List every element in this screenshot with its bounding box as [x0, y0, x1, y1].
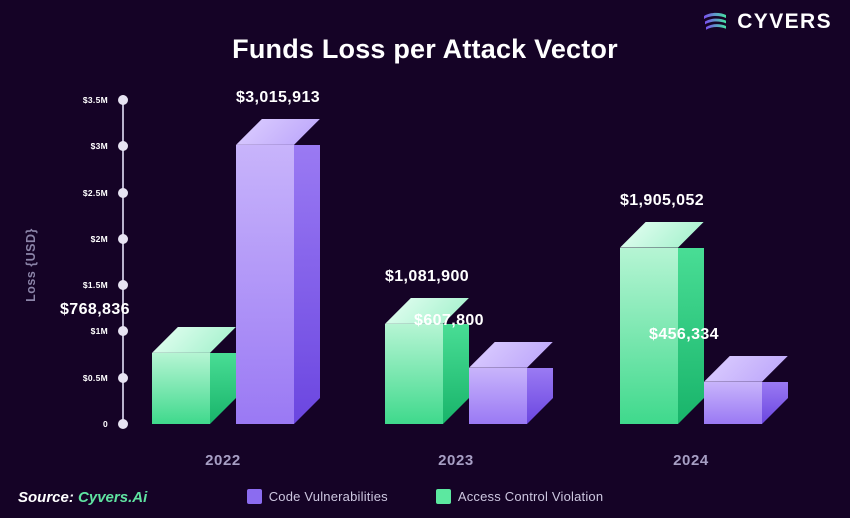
y-tick-dot [118, 373, 128, 383]
legend-item-code-vulnerabilities[interactable]: Code Vulnerabilities [247, 489, 388, 504]
y-tick-dot [118, 419, 128, 429]
x-axis-label-2024: 2024 [673, 452, 709, 469]
bar-top-face [152, 327, 236, 353]
legend-label: Access Control Violation [458, 489, 603, 504]
bar-value-label: $607,800 [414, 312, 484, 330]
bar-value-label: $768,836 [60, 301, 130, 319]
bar-side-face [443, 324, 469, 424]
bar-side-face [762, 382, 788, 424]
y-tick-label: $3M [91, 141, 108, 151]
bar-front-face [704, 382, 762, 424]
legend-item-access-control-violation[interactable]: Access Control Violation [436, 489, 603, 504]
bar-side-face [210, 353, 236, 424]
y-tick-dot [118, 326, 128, 336]
y-tick-dot [118, 280, 128, 290]
bar-value-label: $3,015,913 [236, 89, 320, 107]
bar-front-face [385, 324, 443, 424]
bar-top-face [620, 222, 704, 248]
y-tick-label: $1M [91, 326, 108, 336]
y-tick-dot [118, 95, 128, 105]
y-tick-dot [118, 141, 128, 151]
bar-front-face [469, 368, 527, 424]
bar-top-face [469, 342, 553, 368]
y-axis-label: Loss {USD} [24, 210, 38, 320]
bar-side-face [294, 145, 320, 424]
bar-value-label: $1,081,900 [385, 268, 469, 286]
x-axis-label-2023: 2023 [438, 452, 474, 469]
bar-top-face [704, 356, 788, 382]
bar-front-face [152, 353, 210, 424]
bar-value-label: $1,905,052 [620, 192, 704, 210]
bar-2022-code-vulnerabilities[interactable] [236, 145, 294, 424]
y-tick-label: $1.5M [83, 280, 108, 290]
bar-top-face [236, 119, 320, 145]
bar-2022-access-control-violation[interactable] [152, 353, 210, 424]
plot-area: Loss {USD} $3.5M$3M$2.5M$2M$1.5M$1M$0.5M… [0, 0, 850, 518]
bar-side-face [527, 368, 553, 424]
y-tick-dot [118, 188, 128, 198]
y-tick-label: $2.5M [83, 188, 108, 198]
bar-front-face [236, 145, 294, 424]
legend-label: Code Vulnerabilities [269, 489, 388, 504]
y-tick-label: $3.5M [83, 95, 108, 105]
y-tick-label: $0.5M [83, 373, 108, 383]
bar-2023-code-vulnerabilities[interactable] [469, 368, 527, 424]
legend-swatch-icon [247, 489, 262, 504]
bar-2024-code-vulnerabilities[interactable] [704, 382, 762, 424]
chart-canvas: CYVERS Funds Loss per Attack Vector Loss… [0, 0, 850, 518]
y-tick-label: 0 [103, 419, 108, 429]
legend-swatch-icon [436, 489, 451, 504]
y-tick-dot [118, 234, 128, 244]
bar-value-label: $456,334 [649, 326, 719, 344]
chart-legend: Code Vulnerabilities Access Control Viol… [0, 489, 850, 504]
x-axis-label-2022: 2022 [205, 452, 241, 469]
bar-2023-access-control-violation[interactable] [385, 324, 443, 424]
y-tick-label: $2M [91, 234, 108, 244]
